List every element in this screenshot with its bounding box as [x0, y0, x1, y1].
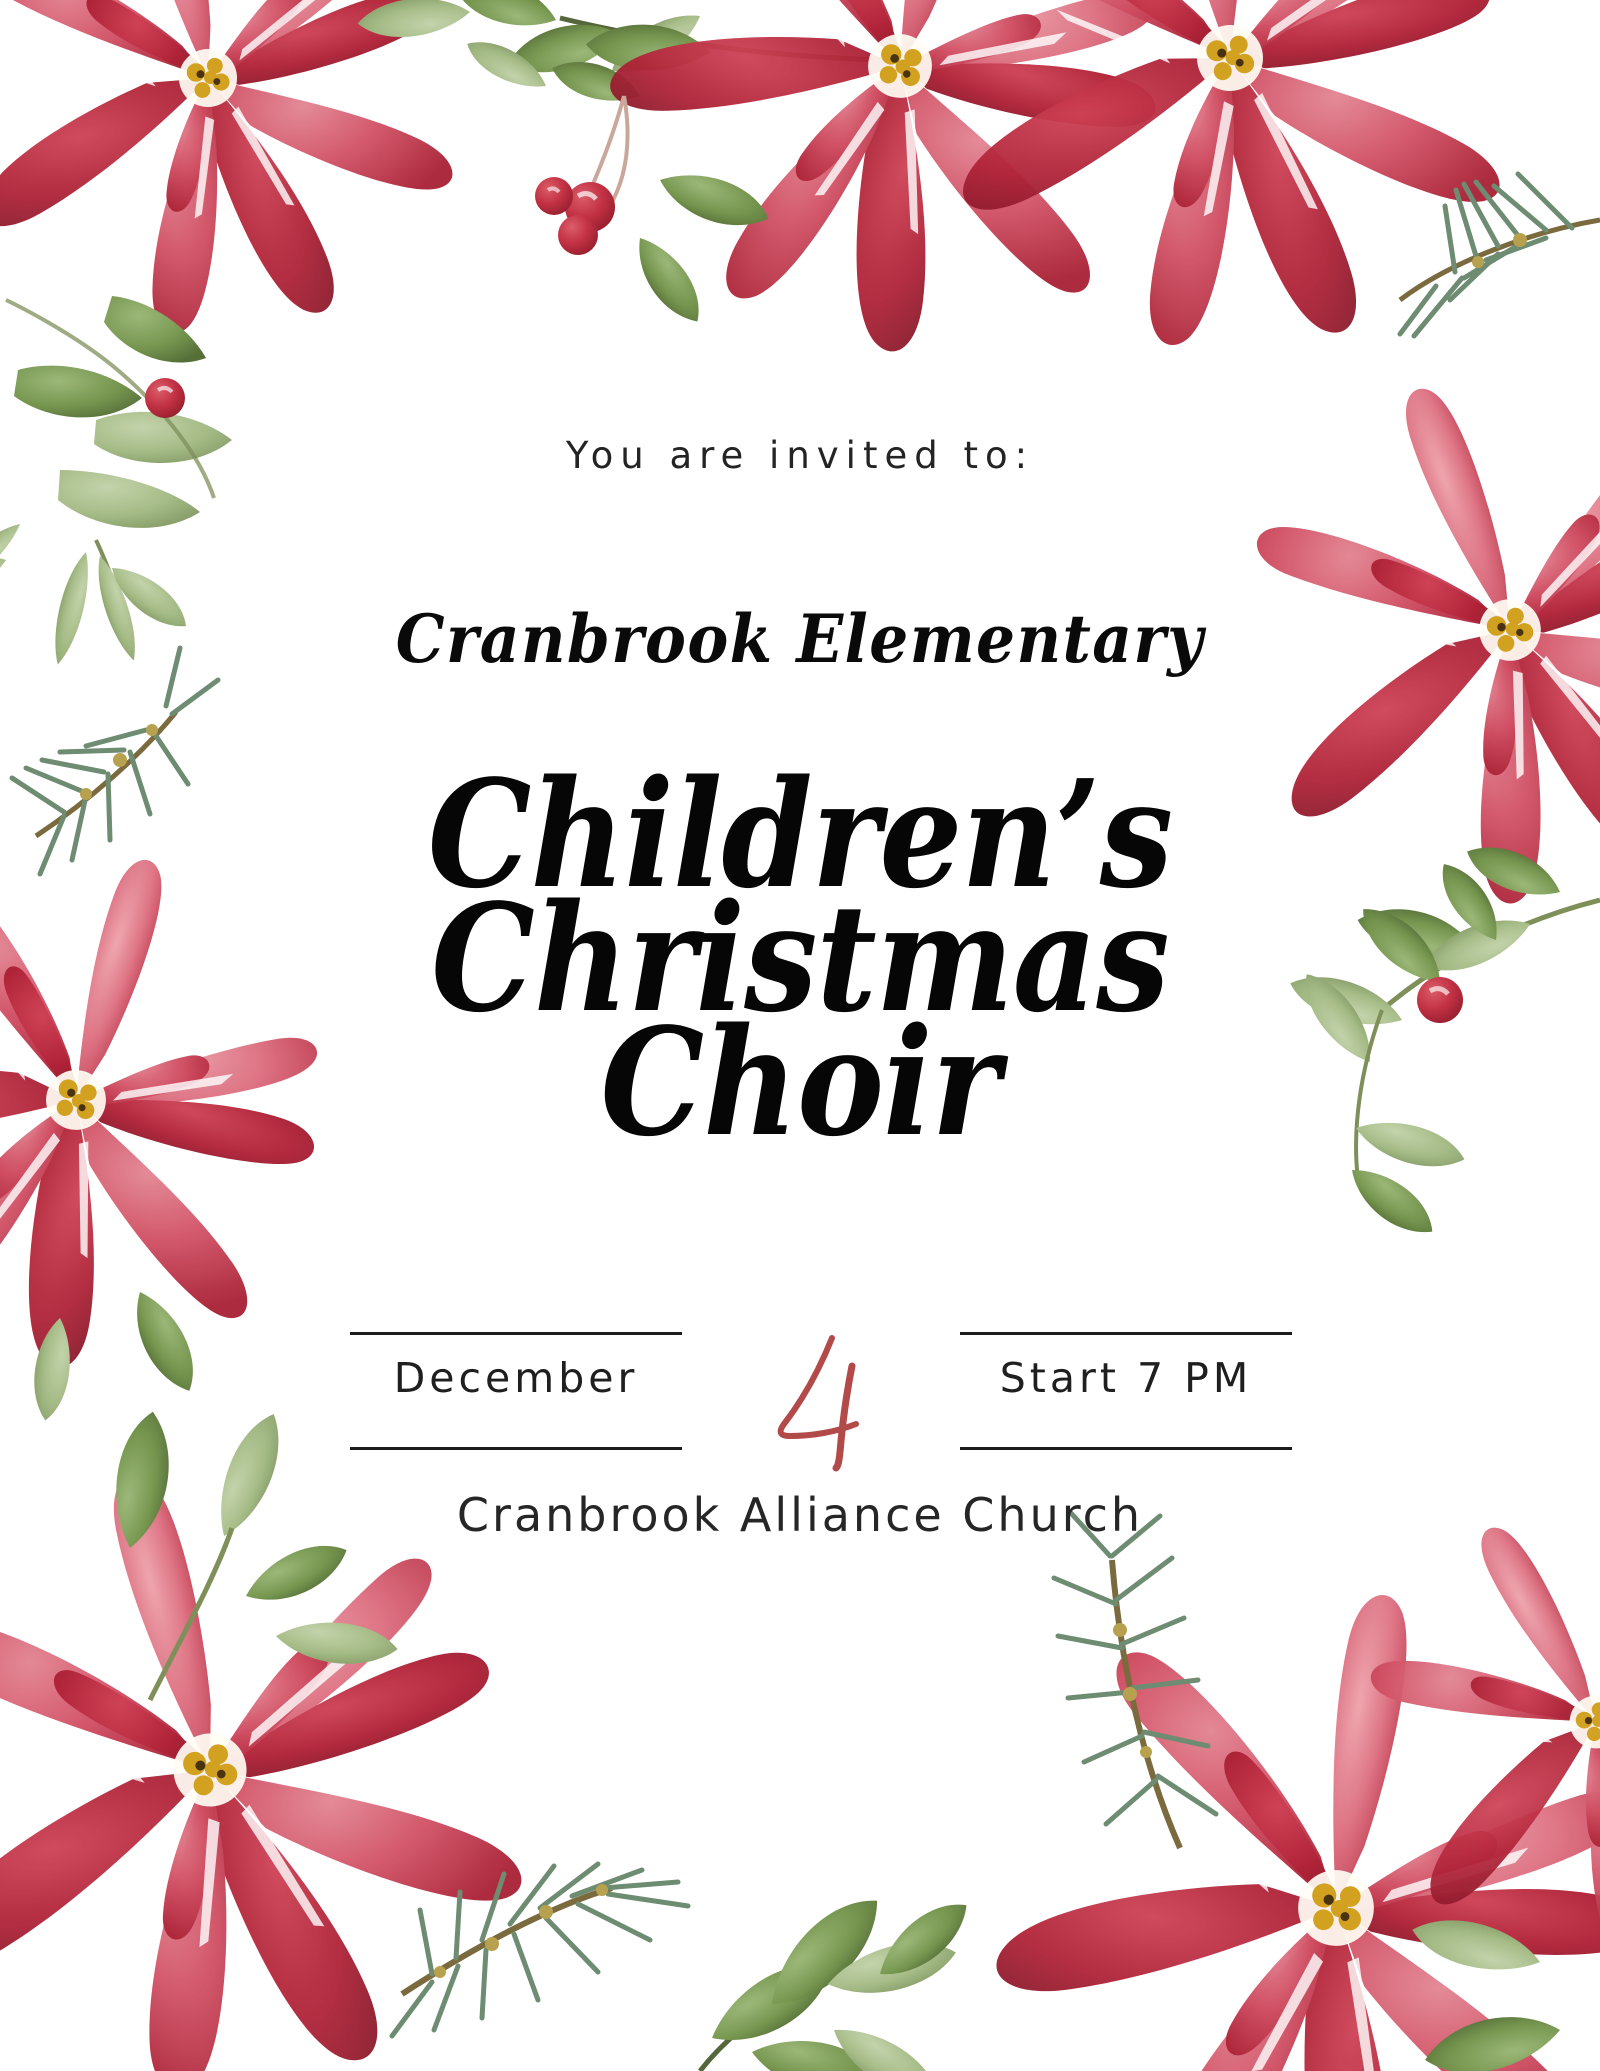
event-day-number — [740, 1324, 900, 1472]
poster-canvas: You are invited to: Cranbrook Elementary… — [0, 0, 1600, 2071]
intro-line: You are invited to: — [0, 434, 1600, 477]
month-rule-bottom — [350, 1447, 682, 1450]
month-rule-top — [350, 1332, 682, 1335]
title-line-3: Choir — [96, 1020, 1504, 1144]
invitation-content: You are invited to: Cranbrook Elementary… — [0, 0, 1600, 2071]
event-venue: Cranbrook Alliance Church — [0, 1488, 1600, 1542]
event-month: December — [350, 1354, 682, 1402]
event-title: Children’s Christmas Choir — [96, 772, 1504, 1144]
time-rule-bottom — [960, 1447, 1292, 1450]
time-rule-top — [960, 1332, 1292, 1335]
event-time: Start 7 PM — [960, 1354, 1292, 1402]
organization-name: Cranbrook Elementary — [56, 600, 1544, 678]
event-details-row: December Start 7 PM — [0, 1316, 1600, 1476]
